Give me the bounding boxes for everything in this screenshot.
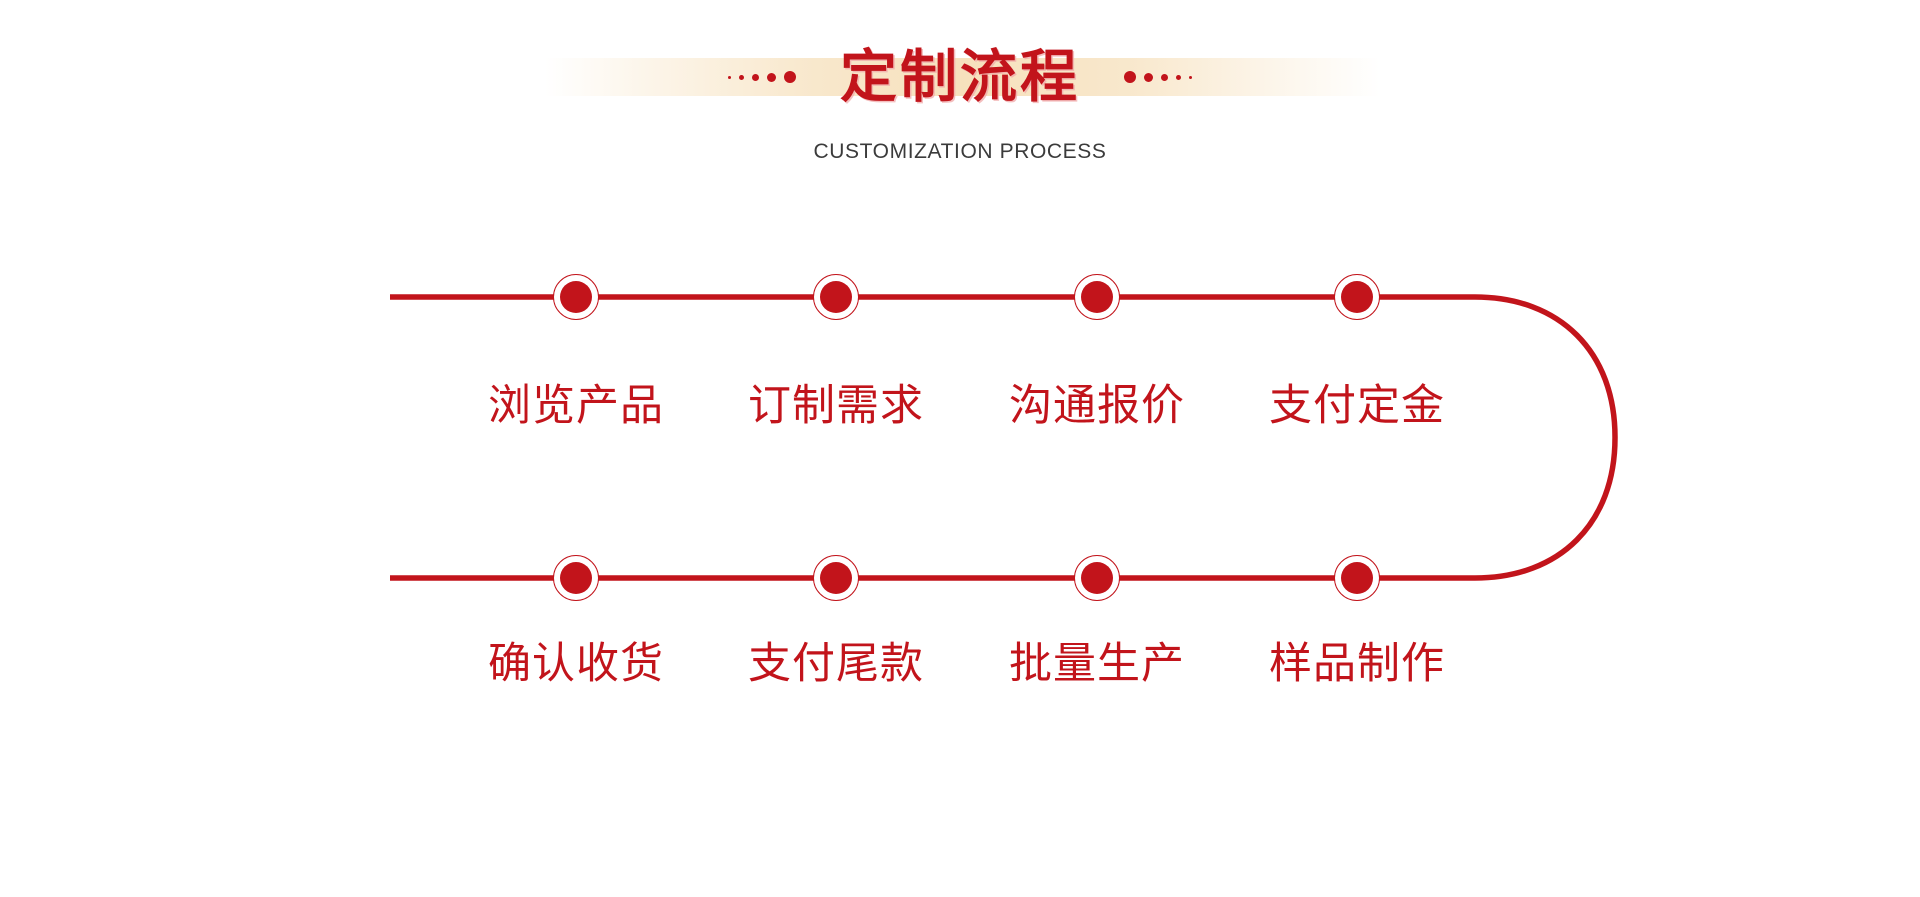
- process-label-top-3: 沟通报价: [1009, 385, 1185, 428]
- ornament-dot-icon: [752, 74, 759, 81]
- process-label-top-2: 订制需求: [748, 385, 924, 428]
- ornament-dot-icon: [1189, 76, 1192, 79]
- ornament-dot-icon: [1124, 71, 1136, 83]
- process-node-top-4[interactable]: [1334, 274, 1380, 320]
- process-label-bottom-3: 批量生产: [1009, 643, 1185, 686]
- process-node-bottom-1[interactable]: [553, 555, 599, 601]
- process-node-bottom-4[interactable]: [1334, 555, 1380, 601]
- process-node-bottom-3[interactable]: [1074, 555, 1120, 601]
- track-path: [390, 297, 1615, 578]
- ornament-dot-icon: [1144, 73, 1153, 82]
- page-header: 定制流程 CUSTOMIZATION PROCESS: [0, 0, 1920, 170]
- page-subtitle: CUSTOMIZATION PROCESS: [0, 140, 1920, 164]
- process-node-top-3[interactable]: [1074, 274, 1120, 320]
- left-dot-ornament: [728, 67, 796, 87]
- title-row: 定制流程: [0, 32, 1920, 122]
- process-node-bottom-2[interactable]: [813, 555, 859, 601]
- ornament-dot-icon: [767, 73, 776, 82]
- process-label-bottom-4: 样品制作: [1269, 643, 1445, 686]
- process-node-top-2[interactable]: [813, 274, 859, 320]
- ornament-dot-icon: [1176, 75, 1181, 80]
- process-label-top-1: 浏览产品: [488, 385, 664, 428]
- ornament-dot-icon: [1161, 74, 1168, 81]
- ornament-dot-icon: [784, 71, 796, 83]
- right-dot-ornament: [1124, 67, 1192, 87]
- process-label-bottom-1: 确认收货: [488, 643, 664, 686]
- process-label-bottom-2: 支付尾款: [748, 643, 924, 686]
- process-flow-diagram: 浏览产品 订制需求 沟通报价 支付定金 确认收货 支付尾款 批量生产 样品制作: [0, 200, 1920, 760]
- page-title: 定制流程: [840, 49, 1080, 106]
- ornament-dot-icon: [728, 76, 731, 79]
- ornament-dot-icon: [739, 75, 744, 80]
- process-node-top-1[interactable]: [553, 274, 599, 320]
- process-label-top-4: 支付定金: [1269, 385, 1445, 428]
- process-track: [0, 200, 1920, 760]
